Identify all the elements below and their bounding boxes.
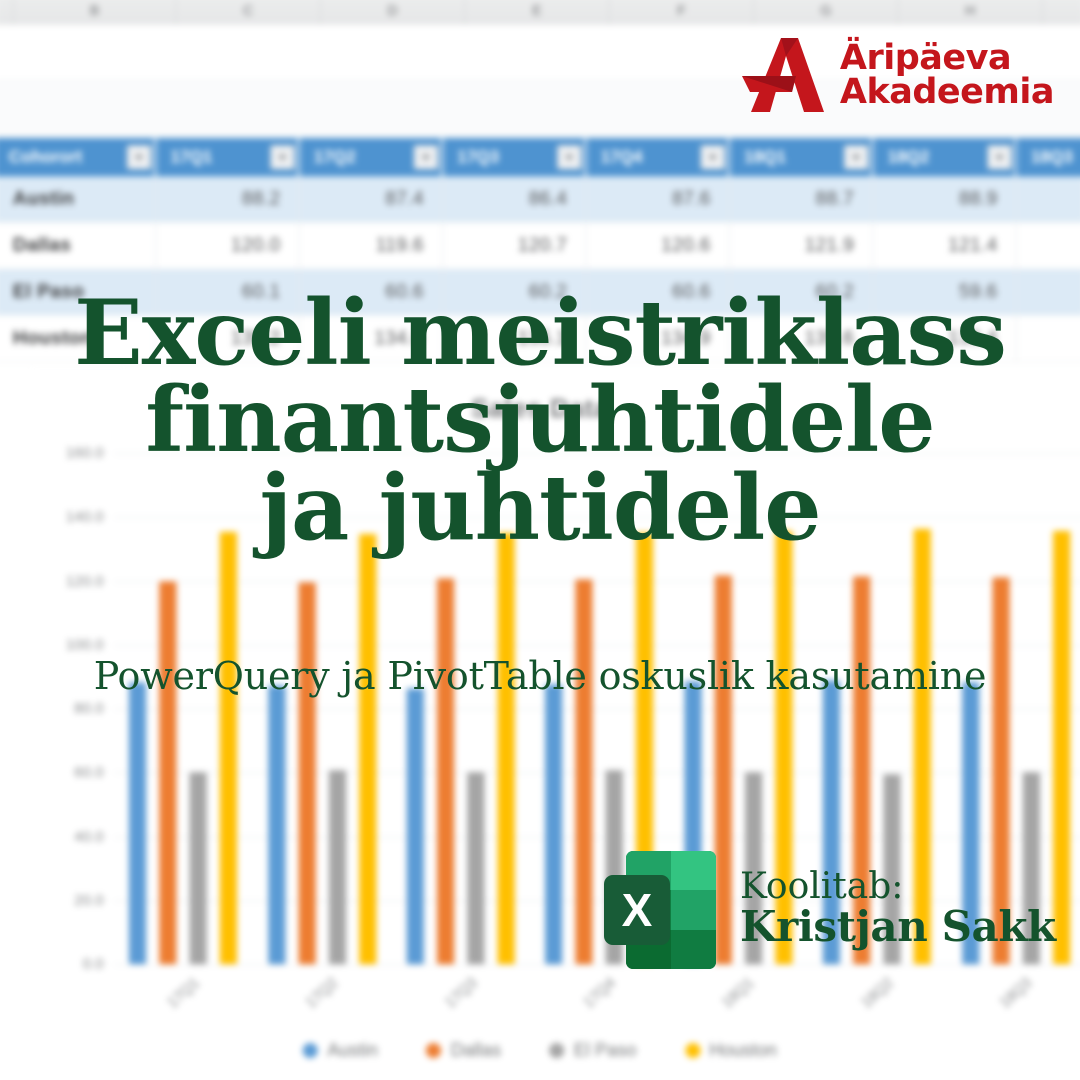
excel-icon-letter: X bbox=[622, 887, 653, 933]
overlay-content: Äripäeva Akadeemia Exceli meistriklass f… bbox=[0, 0, 1080, 1080]
title-line-2: finantsjuhtidele bbox=[0, 377, 1080, 464]
logo-line-1: Äripäeva bbox=[840, 41, 1054, 75]
title-line-1: Exceli meistriklass bbox=[0, 290, 1080, 377]
promo-graphic: BCDEFGH Cohorort17Q117Q217Q317Q418Q118Q2… bbox=[0, 0, 1080, 1080]
logo-a-mark bbox=[740, 36, 826, 114]
trainer-label: Koolitab: bbox=[740, 869, 1056, 906]
aripaeva-akadeemia-logo: Äripäeva Akadeemia bbox=[740, 36, 1054, 114]
logo-wordmark: Äripäeva Akadeemia bbox=[840, 41, 1054, 110]
page-subtitle: PowerQuery ja PivotTable oskuslik kasuta… bbox=[0, 654, 1080, 698]
title-line-3: ja juhtidele bbox=[0, 465, 1080, 552]
excel-icon-badge: X bbox=[604, 875, 670, 945]
excel-icon: X bbox=[604, 845, 716, 973]
page-title: Exceli meistriklass finantsjuhtidele ja … bbox=[0, 290, 1080, 552]
trainer-name: Kristjan Sakk bbox=[740, 906, 1056, 949]
logo-line-2: Akadeemia bbox=[840, 75, 1054, 109]
trainer-block: X Koolitab: Kristjan Sakk bbox=[604, 845, 1056, 973]
trainer-text: Koolitab: Kristjan Sakk bbox=[740, 869, 1056, 949]
